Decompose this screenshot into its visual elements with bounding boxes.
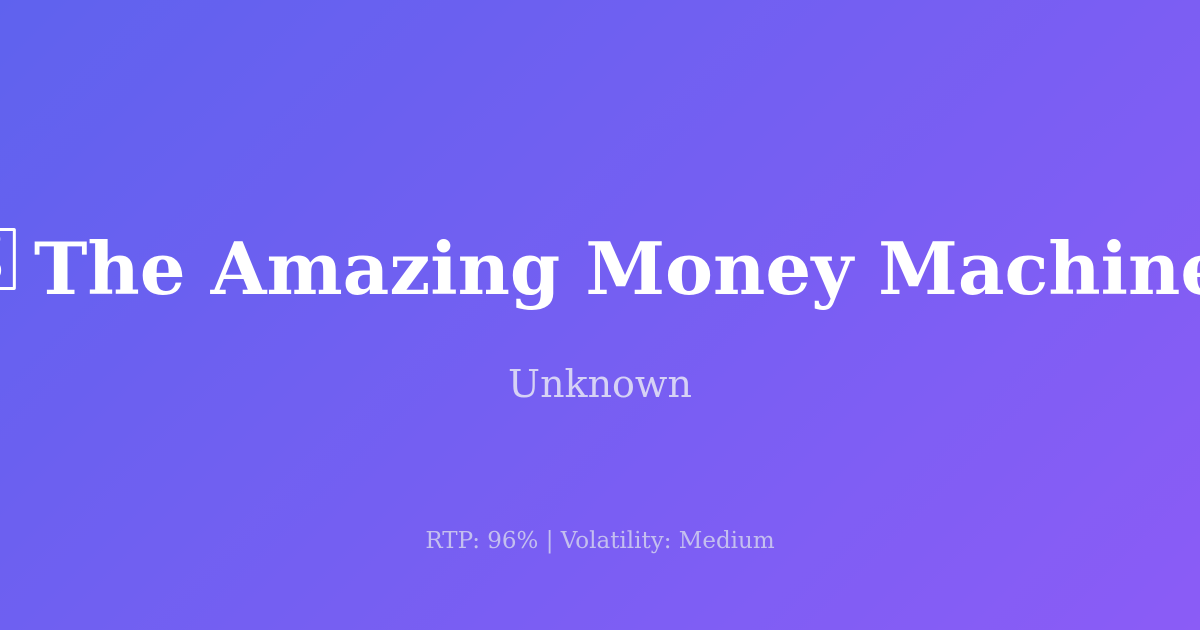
game-banner-card: F 0 The Amazing Money Machine Unknown RT… (0, 0, 1200, 630)
subtitle: Unknown (0, 364, 1200, 406)
tofu-hex-bottom: 0 (0, 261, 13, 282)
page-title: The Amazing Money Machine (34, 233, 1200, 305)
title-row: F 0 The Amazing Money Machine (0, 232, 1200, 305)
missing-glyph-tofu-icon: F 0 (0, 228, 16, 290)
tofu-hex-top: F (0, 236, 13, 257)
game-meta-line: RTP: 96% | Volatility: Medium (0, 528, 1200, 556)
